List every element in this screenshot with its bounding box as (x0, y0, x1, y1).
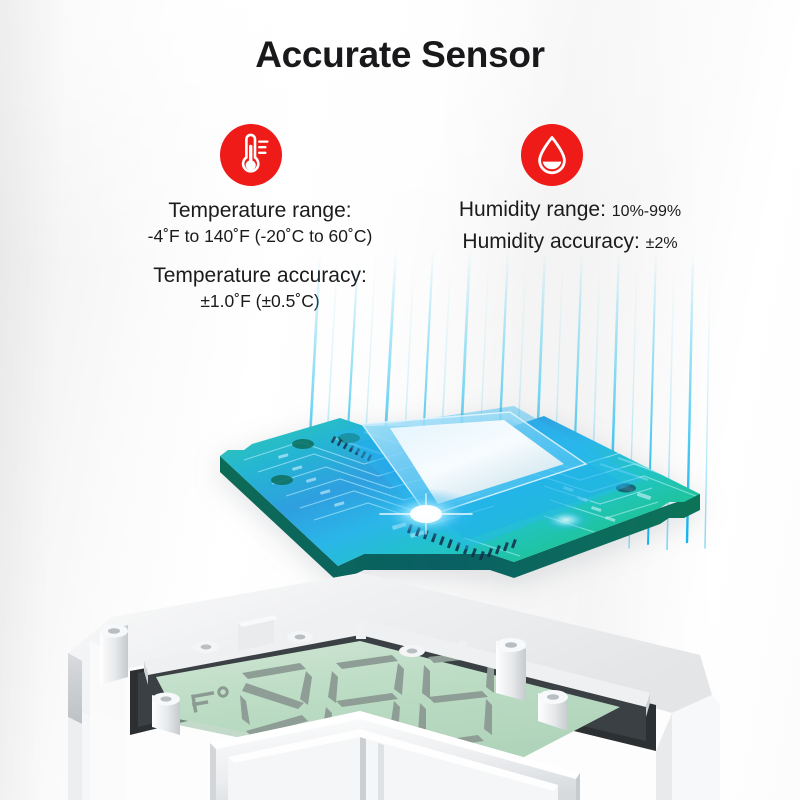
product-scene (0, 0, 800, 800)
device-housing (60, 545, 760, 800)
product-feature-graphic: Accurate Sensor Temperature range: -4˚F … (0, 0, 800, 800)
